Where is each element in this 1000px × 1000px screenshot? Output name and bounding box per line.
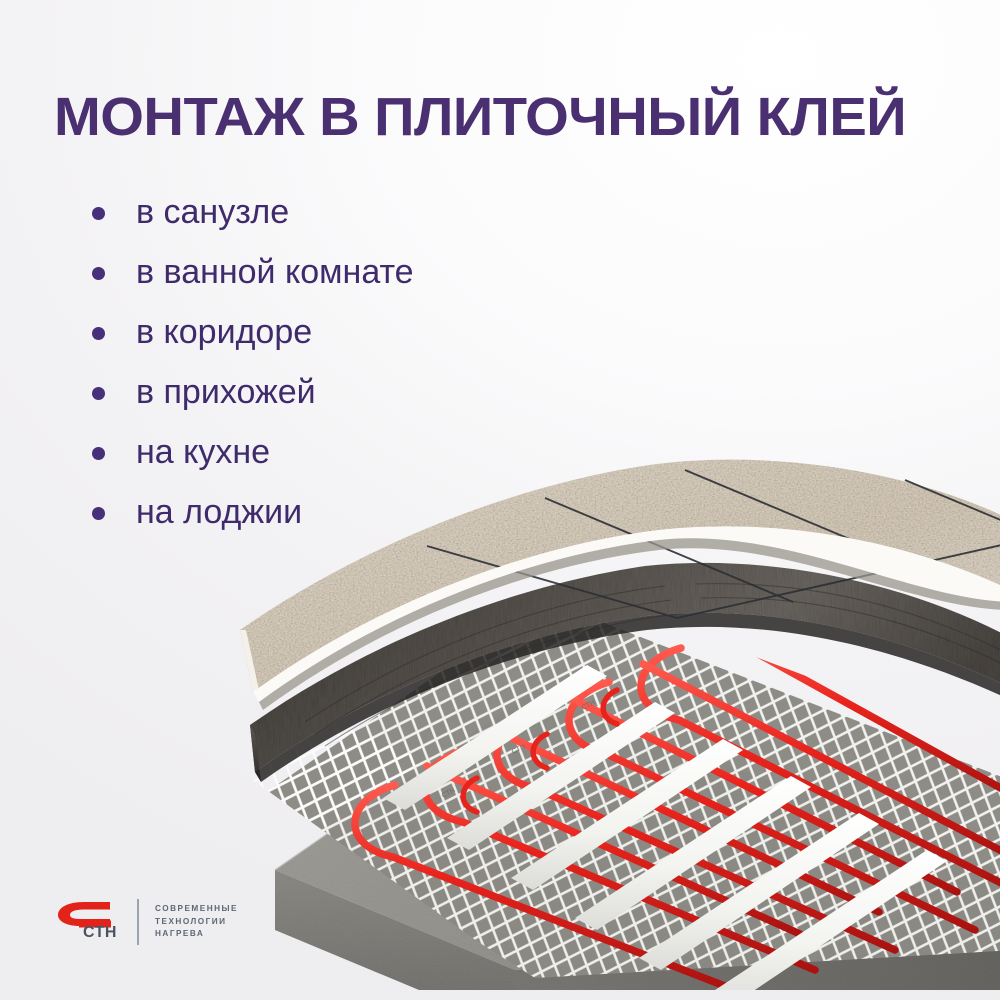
bullet-dot-icon (92, 507, 105, 520)
tagline-line-3: НАГРЕВА (155, 928, 238, 940)
logo-wordmark: СТН (83, 924, 117, 942)
list-item: в ванной комнате (88, 252, 558, 292)
bullet-dot-icon (92, 207, 105, 220)
list-item-label: в ванной комнате (136, 253, 414, 291)
logo-tagline: СОВРЕМЕННЫЕ ТЕХНОЛОГИИ НАГРЕВА (155, 903, 238, 940)
list-item: в санузле (88, 192, 558, 232)
bullet-dot-icon (92, 327, 105, 340)
bullet-dot-icon (92, 267, 105, 280)
bullet-dot-icon (92, 387, 105, 400)
page-title: МОНТАЖ В ПЛИТОЧНЫЙ КЛЕЙ (54, 88, 1000, 146)
logo-divider (137, 899, 139, 945)
stn-logo-mark-icon: СТН (55, 898, 117, 946)
tagline-line-2: ТЕХНОЛОГИИ (155, 916, 238, 928)
poster-canvas: МОНТАЖ В ПЛИТОЧНЫЙ КЛЕЙ в санузле в ванн… (0, 0, 1000, 1000)
list-item-label: в санузле (136, 193, 289, 231)
brand-logo: СТН СОВРЕМЕННЫЕ ТЕХНОЛОГИИ НАГРЕВА (55, 898, 238, 946)
tagline-line-1: СОВРЕМЕННЫЕ (155, 903, 238, 915)
bullet-dot-icon (92, 447, 105, 460)
floor-heating-cutaway-illustration: СТН СТН СТН (215, 330, 1000, 990)
